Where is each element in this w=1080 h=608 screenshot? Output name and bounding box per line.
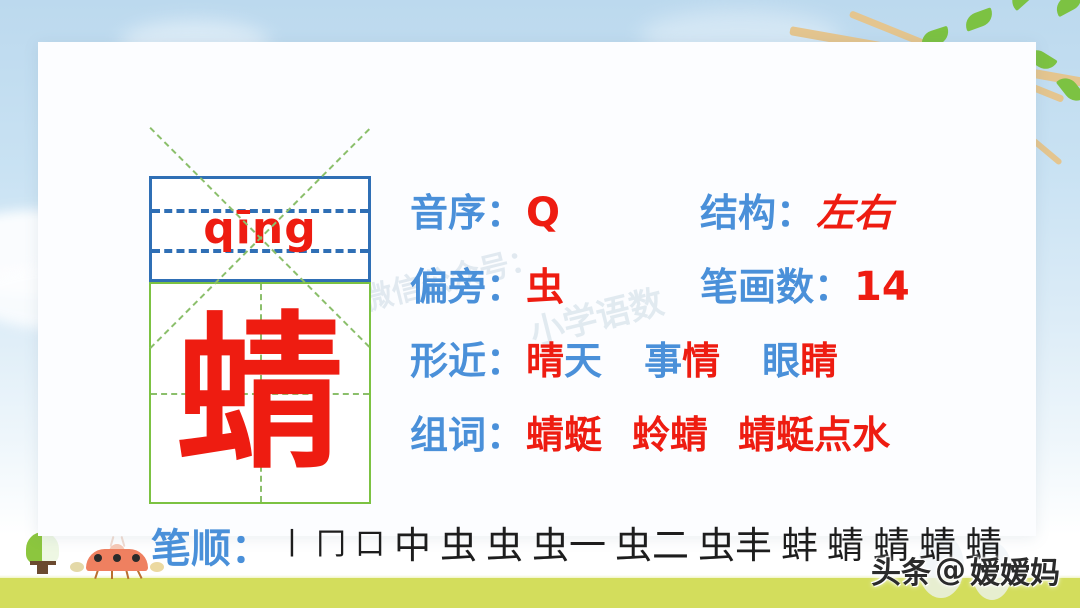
tree-leaf-left [26,532,43,564]
field-label: 笔顺 [151,516,231,574]
stroke-step: 中 [394,527,431,564]
similar-word: 眼睛 [762,359,838,378]
similar-words-list: 晴天事情眼睛 [526,330,838,385]
badge-at-sign: @ [935,552,966,588]
compound-words-list: 蜻蜓蛉蜻蜻蜓点水 [526,404,890,459]
field-yinxu: 音序 ： Q [410,182,700,237]
field-colon: ： [486,404,524,459]
leaf-icon [1007,0,1039,11]
field-value: 左右 [816,182,892,237]
info-panel: 音序 ： Q 结构 ： 左右 偏旁 ： 虫 笔画数 ： 14 [410,182,1030,478]
field-value: Q [526,190,560,236]
small-tree-icon [26,532,60,574]
main-character: 蜻 [151,284,369,502]
field-label: 音序 [410,182,486,237]
field-value: 14 [854,264,910,310]
field-colon: ： [486,256,524,311]
field-colon: ： [486,330,524,385]
stroke-step: 虫 [440,527,477,564]
stroke-step: 丨 [277,530,307,560]
tree-trunk [37,562,48,574]
ladybug-spot [113,554,121,562]
compound-word: 蜻蜓点水 [738,412,890,457]
similar-word-char: 情 [682,338,720,383]
lesson-card: 微信公众号： 小学语数 qīng 蜻 音序 ： Q 结构 [38,42,1036,536]
info-row: 音序 ： Q 结构 ： 左右 [410,182,1030,234]
pinyin-text: qīng [152,207,368,251]
ladybug-spot [94,554,102,562]
similar-word-char: 事 [644,338,682,383]
stroke-step: 虫二 [615,527,689,564]
field-label: 笔画数 [700,256,814,311]
leaf-icon [1052,0,1080,17]
compound-word: 蛉蜻 [632,412,708,457]
pinyin-box: qīng [149,176,371,282]
field-colon: ： [814,256,852,311]
character-grid: 蜻 [149,282,371,504]
field-colon: ： [776,182,814,237]
field-colon: ： [231,516,271,574]
ladybug-spot [132,554,140,562]
badge-platform: 头条 [871,548,931,592]
stroke-step: 虫一 [532,527,606,564]
field-zuci: 组词 ： 蜻蜓蛉蜻蜻蜓点水 [410,404,1030,456]
field-xingjin: 形近 ： 晴天事情眼睛 [410,330,1030,382]
field-value: 虫 [526,256,564,311]
stroke-step: 虫 [486,527,523,564]
similar-word: 晴天 [526,359,602,378]
field-label: 偏旁 [410,256,486,311]
similar-word: 事情 [644,359,720,378]
similar-word-char: 眼 [762,338,800,383]
field-label: 形近 [410,330,486,385]
ladybug-icon [86,545,148,575]
character-display-block: qīng 蜻 [149,176,371,504]
field-label: 结构 [700,182,776,237]
similar-word-char: 天 [564,338,602,383]
stroke-step: 虫丰 [698,527,772,564]
badge-author: 嫒嫒妈 [970,548,1060,592]
stroke-step: 蜻 [827,527,864,564]
stroke-step: 蚌 [781,527,818,564]
compound-word: 蜻蜓 [526,412,602,457]
field-jiegou: 结构 ： 左右 [700,182,892,237]
field-colon: ： [486,182,524,237]
source-badge: 头条 @ 嫒嫒妈 [871,548,1060,592]
field-bihuashu: 笔画数 ： 14 [700,256,910,311]
tree-leaf-right [42,532,59,564]
pebble-icon [70,562,84,572]
field-label: 组词 [410,404,486,459]
stroke-order-row: 笔顺 ： 丨冂口中虫虫虫一虫二虫丰蚌蜻蜻蜻蜻 [151,516,996,574]
similar-word-char: 睛 [800,338,838,383]
info-row: 偏旁 ： 虫 笔画数 ： 14 [410,256,1030,308]
field-pianpang: 偏旁 ： 虫 [410,256,700,311]
similar-word-char: 晴 [526,338,564,383]
leaf-icon [962,7,995,31]
stroke-step: 口 [355,530,385,560]
stroke-step: 冂 [316,530,346,560]
